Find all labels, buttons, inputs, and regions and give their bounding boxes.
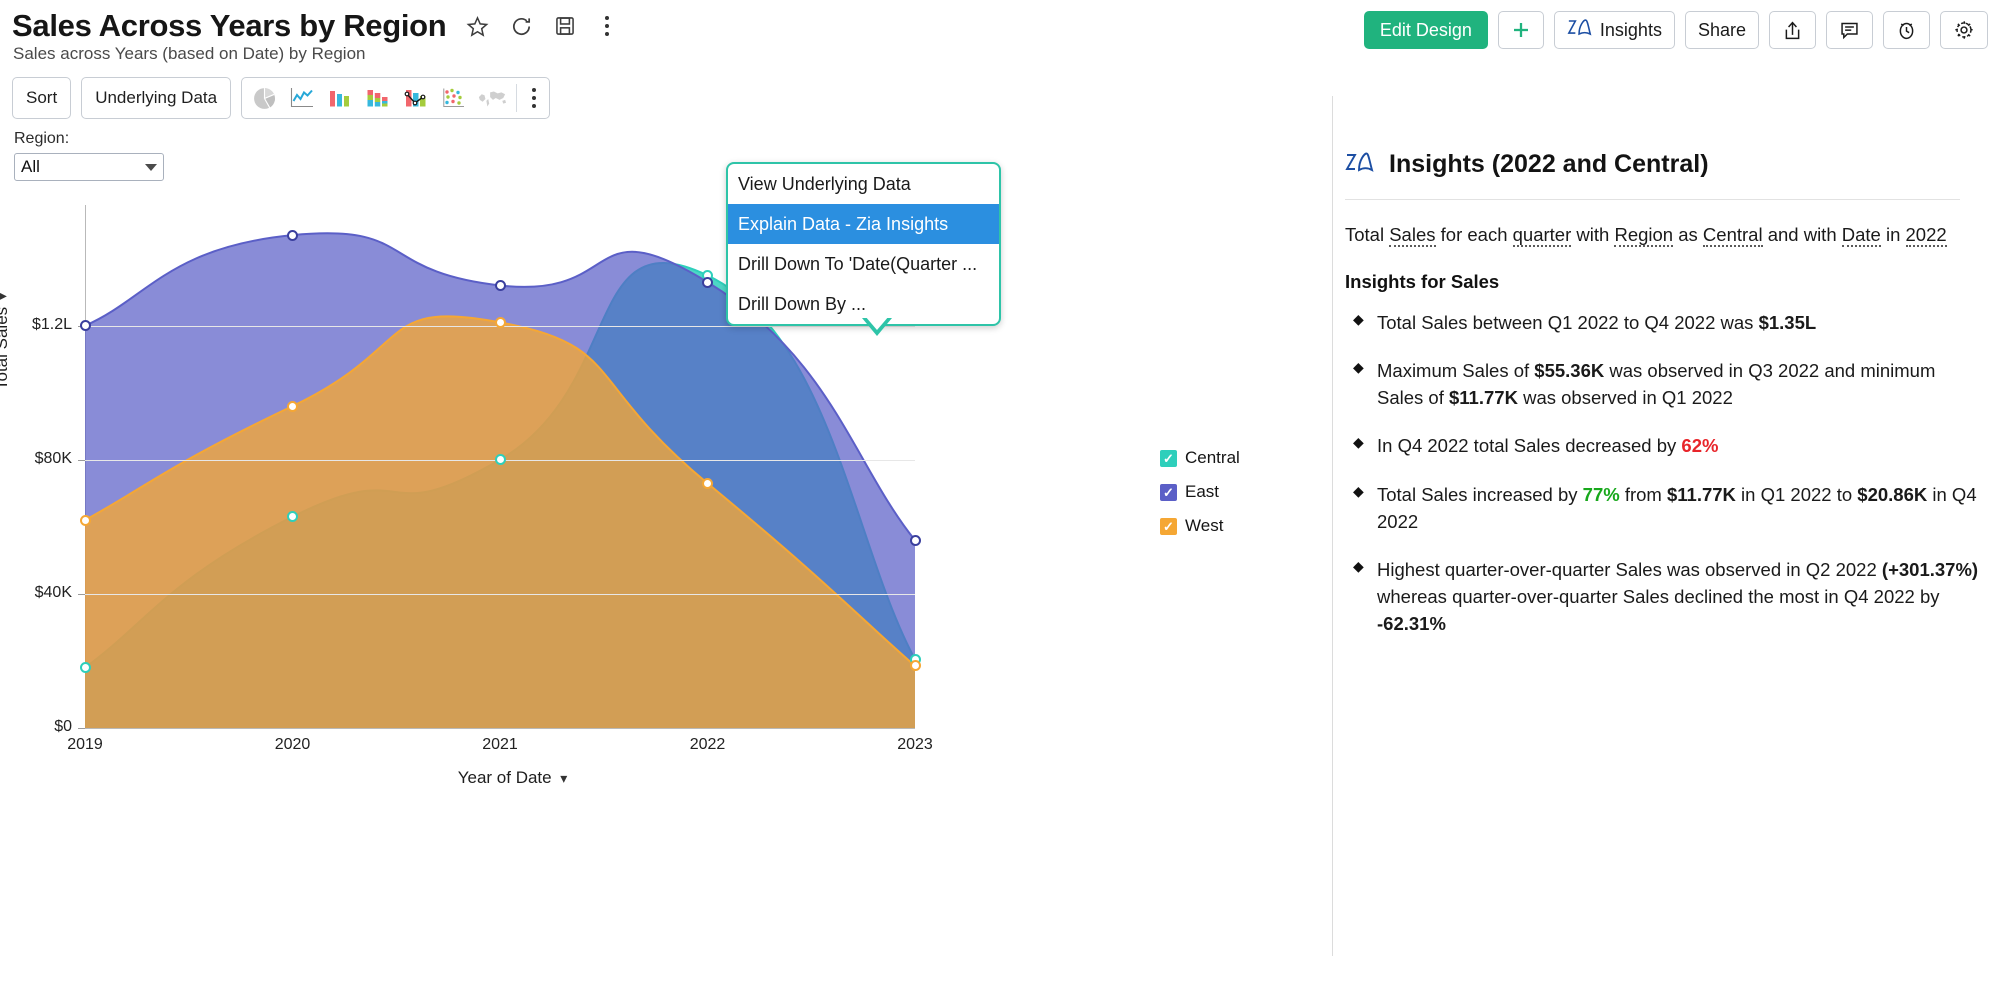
- geo-map-icon[interactable]: [474, 78, 510, 118]
- field-token[interactable]: Central: [1703, 224, 1763, 247]
- zia-insights-icon: [1345, 151, 1375, 178]
- legend-label: East: [1185, 482, 1219, 502]
- legend-label: Central: [1185, 448, 1240, 468]
- x-axis-label[interactable]: Year of Date ▾: [0, 768, 1025, 788]
- data-point-central-2021[interactable]: [495, 454, 506, 465]
- region-filter: Region: All: [14, 130, 164, 181]
- emphasis: -62.31%: [1377, 613, 1446, 634]
- add-button[interactable]: [1498, 11, 1544, 49]
- field-token[interactable]: Sales: [1389, 224, 1435, 247]
- combo-chart-icon[interactable]: [398, 78, 434, 118]
- chart-subtitle: Sales across Years (based on Date) by Re…: [13, 44, 365, 64]
- y-axis-tick: [78, 594, 85, 595]
- panel-divider: [1332, 96, 1333, 956]
- insights-subheading: Insights for Sales: [1345, 271, 1985, 293]
- save-icon[interactable]: [552, 13, 578, 39]
- field-token[interactable]: 2022: [1906, 224, 1947, 247]
- insight-bullet: In Q4 2022 total Sales decreased by 62%: [1345, 432, 1985, 459]
- toolbar-divider: [516, 84, 517, 112]
- insights-header: Insights (2022 and Central): [1345, 150, 1985, 179]
- page-title: Sales Across Years by Region: [12, 8, 446, 44]
- gridline: [85, 594, 915, 595]
- insights-title: Insights (2022 and Central): [1389, 150, 1709, 179]
- pie-chart-icon[interactable]: [246, 78, 282, 118]
- legend-checkbox[interactable]: ✓: [1160, 450, 1177, 467]
- more-options-icon[interactable]: [596, 16, 618, 36]
- star-icon[interactable]: [464, 13, 490, 39]
- title-row: Sales Across Years by Region: [12, 8, 618, 44]
- field-token[interactable]: Date: [1842, 224, 1881, 247]
- legend-item-west[interactable]: ✓West: [1160, 516, 1240, 536]
- insights-summary: Total Sales for each quarter with Region…: [1345, 222, 1985, 249]
- x-axis-tick-label: 2022: [663, 736, 753, 754]
- legend-item-central[interactable]: ✓Central: [1160, 448, 1240, 468]
- region-select[interactable]: All: [14, 153, 164, 181]
- region-select-value: All: [21, 157, 40, 177]
- insight-bullet: Highest quarter-over-quarter Sales was o…: [1345, 556, 1985, 638]
- line-chart-icon[interactable]: [284, 78, 320, 118]
- data-point-east-2022[interactable]: [702, 277, 713, 288]
- export-icon: [1782, 20, 1803, 41]
- field-token[interactable]: quarter: [1513, 224, 1572, 247]
- legend-label: West: [1185, 516, 1223, 536]
- top-action-bar: Edit Design Insights Share: [1364, 11, 1988, 49]
- chevron-down-icon: ▾: [0, 293, 11, 300]
- chart-toolbar: Sort Underlying Data: [12, 77, 550, 119]
- plus-icon: [1511, 20, 1531, 40]
- region-filter-label: Region:: [14, 130, 164, 148]
- gear-icon: [1953, 19, 1975, 41]
- x-axis-tick-label: 2019: [40, 736, 130, 754]
- y-axis-tick: [78, 460, 85, 461]
- comment-button[interactable]: [1826, 11, 1873, 49]
- refresh-icon[interactable]: [508, 13, 534, 39]
- more-chart-types-icon[interactable]: [523, 88, 545, 108]
- bar-chart-icon[interactable]: [322, 78, 358, 118]
- context-menu: View Underlying DataExplain Data - Zia I…: [726, 162, 1001, 326]
- underlying-data-button[interactable]: Underlying Data: [81, 77, 231, 119]
- y-axis-label-text: Total Sales: [0, 307, 12, 390]
- y-axis-label[interactable]: Total Sales ▾: [0, 293, 12, 390]
- insight-bullet: Total Sales increased by 77% from $11.77…: [1345, 481, 1985, 535]
- chart-type-group: [241, 77, 550, 119]
- data-point-west-2020[interactable]: [287, 401, 298, 412]
- emphasis: $20.86K: [1857, 484, 1927, 505]
- negative-value: 62%: [1681, 435, 1718, 456]
- data-point-east-2021[interactable]: [495, 280, 506, 291]
- legend-item-east[interactable]: ✓East: [1160, 482, 1240, 502]
- emphasis: $55.36K: [1534, 360, 1604, 381]
- y-axis-tick-label: $80K: [0, 450, 72, 468]
- insights-button[interactable]: Insights: [1554, 11, 1675, 49]
- scatter-plot-icon[interactable]: [436, 78, 472, 118]
- alarm-button[interactable]: [1883, 11, 1930, 49]
- data-point-east-2023[interactable]: [910, 535, 921, 546]
- stacked-bar-chart-icon[interactable]: [360, 78, 396, 118]
- chart-legend: ✓Central✓East✓West: [1160, 448, 1240, 536]
- dot: [532, 104, 536, 108]
- legend-checkbox[interactable]: ✓: [1160, 484, 1177, 501]
- insights-divider: [1345, 199, 1960, 200]
- chevron-down-icon: [145, 164, 157, 171]
- dot: [605, 16, 609, 20]
- emphasis: $1.35L: [1759, 312, 1817, 333]
- context-menu-pointer-inner: [865, 316, 889, 330]
- legend-checkbox[interactable]: ✓: [1160, 518, 1177, 535]
- data-point-west-2021[interactable]: [495, 317, 506, 328]
- context-menu-item[interactable]: Explain Data - Zia Insights: [728, 204, 999, 244]
- y-axis-tick-label: $40K: [0, 584, 72, 602]
- zia-insights-icon: [1567, 18, 1593, 43]
- data-point-central-2019[interactable]: [80, 662, 91, 673]
- insights-button-label: Insights: [1600, 20, 1662, 41]
- emphasis: $11.77K: [1449, 387, 1518, 408]
- dot: [605, 24, 609, 28]
- x-axis-line: [85, 728, 915, 729]
- insight-bullet: Maximum Sales of $55.36K was observed in…: [1345, 357, 1985, 411]
- y-axis-tick-label: $0: [0, 718, 72, 736]
- insights-panel: Insights (2022 and Central) Total Sales …: [1345, 150, 1985, 659]
- x-axis-tick-label: 2023: [870, 736, 960, 754]
- emphasis: (+301.37%): [1882, 559, 1978, 580]
- chevron-down-icon: ▾: [556, 770, 567, 786]
- insights-bullet-list: Total Sales between Q1 2022 to Q4 2022 w…: [1345, 309, 1985, 638]
- data-point-west-2022[interactable]: [702, 478, 713, 489]
- x-axis-tick-label: 2021: [455, 736, 545, 754]
- emphasis: $11.77K: [1667, 484, 1736, 505]
- share-button[interactable]: Share: [1685, 11, 1759, 49]
- positive-value: 77%: [1583, 484, 1620, 505]
- settings-button[interactable]: [1940, 11, 1988, 49]
- y-axis-tick: [78, 728, 85, 729]
- edit-design-button[interactable]: Edit Design: [1364, 11, 1488, 49]
- x-axis-tick-label: 2020: [248, 736, 338, 754]
- dot: [532, 96, 536, 100]
- sort-button[interactable]: Sort: [12, 77, 71, 119]
- data-point-west-2023[interactable]: [910, 660, 921, 671]
- alarm-clock-icon: [1896, 20, 1917, 41]
- chart-container: $0$40K$80K$1.2L 20192020202120222023 Tot…: [0, 190, 1310, 996]
- field-token[interactable]: Region: [1614, 224, 1673, 247]
- data-point-west-2019[interactable]: [80, 515, 91, 526]
- context-menu-item[interactable]: View Underlying Data: [728, 164, 999, 204]
- data-point-east-2019[interactable]: [80, 320, 91, 331]
- dot: [605, 32, 609, 36]
- export-button[interactable]: [1769, 11, 1816, 49]
- dot: [532, 88, 536, 92]
- comment-icon: [1839, 20, 1860, 41]
- data-point-east-2020[interactable]: [287, 230, 298, 241]
- context-menu-item[interactable]: Drill Down To 'Date(Quarter ...: [728, 244, 999, 284]
- x-axis-label-text: Year of Date: [458, 768, 552, 787]
- insight-bullet: Total Sales between Q1 2022 to Q4 2022 w…: [1345, 309, 1985, 336]
